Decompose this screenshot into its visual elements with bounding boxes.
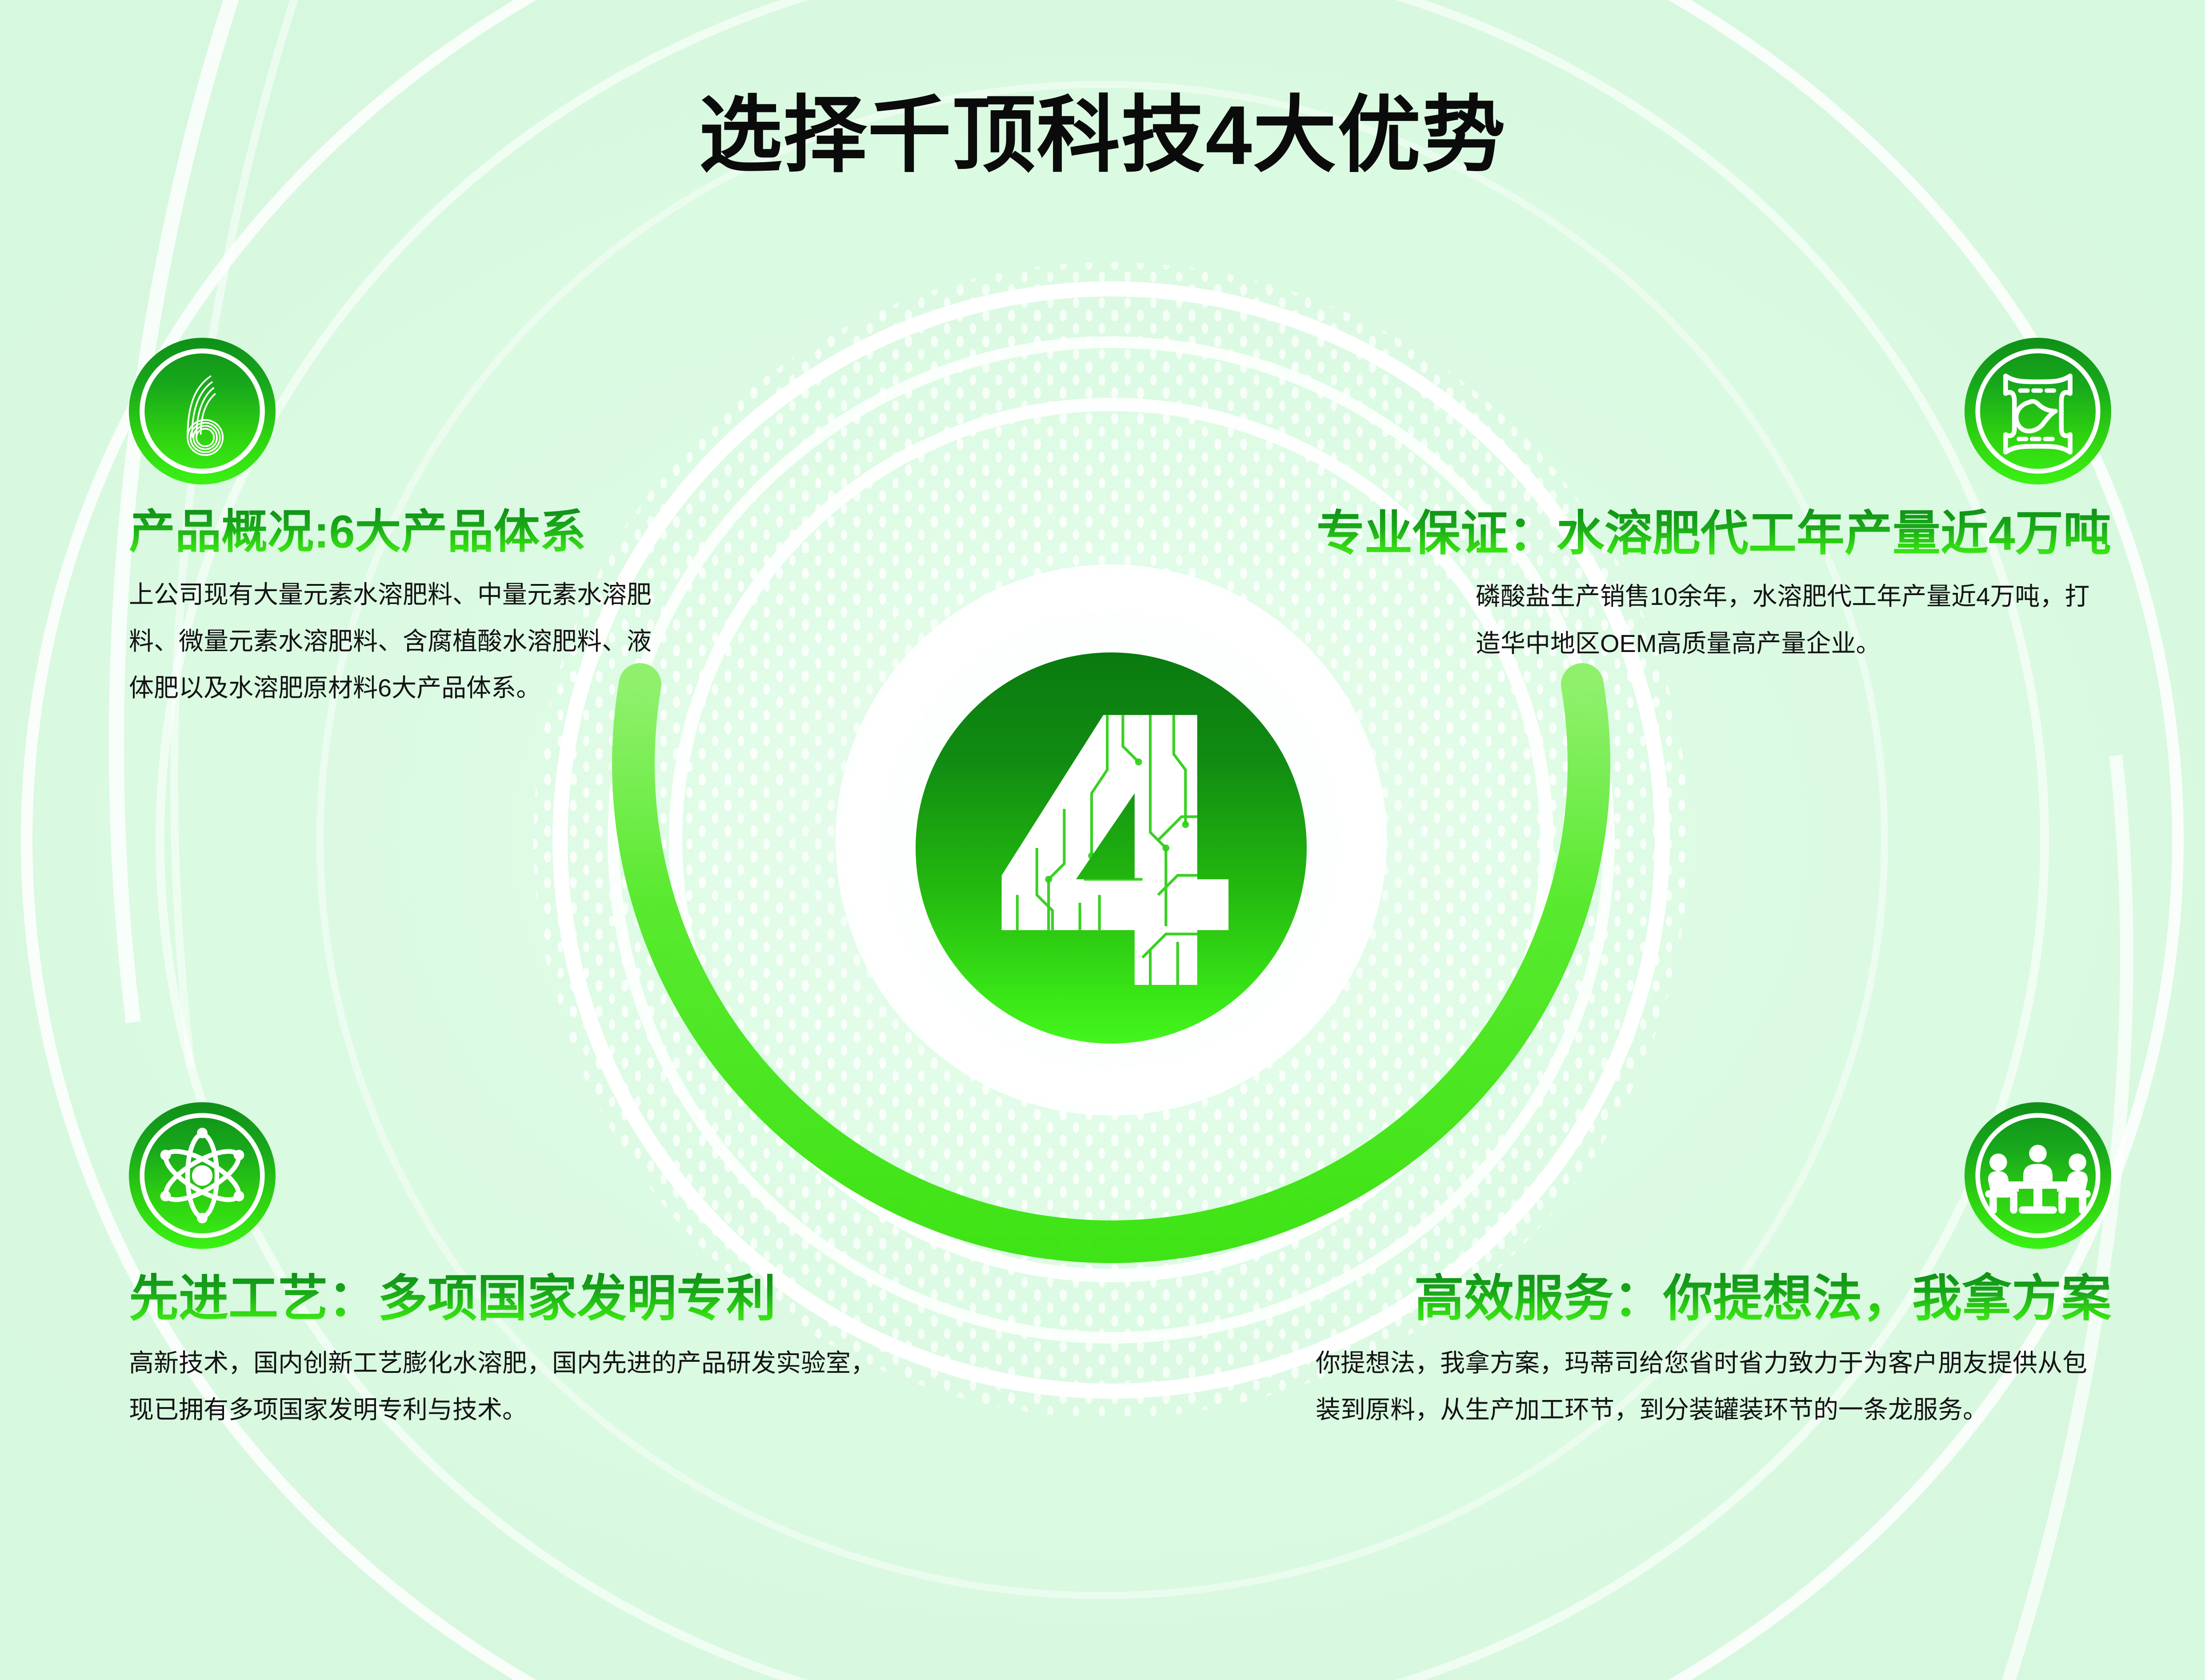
advantage-body: 高新技术，国内创新工艺膨化水溶肥，国内先进的产品研发实验室，现已拥有多项国家发明… — [129, 1340, 876, 1433]
atom-icon — [129, 1102, 276, 1249]
infographic-poster: 选择千顶科技4大优势 — [0, 0, 2205, 1680]
number-six-rings-icon — [129, 338, 276, 484]
advantage-card-efficient-service: 高效服务：你提想法，我拿方案 你提想法，我拿方案，玛蒂司给您省时省力致力于为客户… — [1316, 1102, 2111, 1433]
icon-wrapper — [129, 1102, 276, 1249]
advantage-heading: 专业保证：水溶肥代工年产量近4万吨 — [1191, 505, 2111, 561]
advantage-body: 上公司现有大量元素水溶肥料、中量元素水溶肥料、微量元素水溶肥料、含腐植酸水溶肥料… — [129, 571, 671, 712]
icon-wrapper — [1965, 1102, 2111, 1249]
advantage-card-advanced-process: 先进工艺：多项国家发明专利 高新技术，国内创新工艺膨化水溶肥，国内先进的产品研发… — [129, 1102, 884, 1433]
advantage-body: 磷酸盐生产销售10余年，水溶肥代工年产量近4万吨，打造华中地区OEM高质量高产量… — [1476, 573, 2111, 667]
page-title: 选择千顶科技4大优势 — [0, 92, 2205, 179]
icon-wrapper — [129, 338, 276, 484]
advantage-heading: 先进工艺：多项国家发明专利 — [129, 1269, 884, 1328]
team-meeting-icon — [1965, 1102, 2111, 1249]
icon-wrapper — [1965, 338, 2111, 484]
advantage-body: 你提想法，我拿方案，玛蒂司给您省时省力致力于为客户朋友提供从包装到原料，从生产加… — [1316, 1340, 2102, 1433]
center-number-badge — [916, 652, 1307, 1044]
fertilizer-bag-icon — [1965, 338, 2111, 484]
advantage-heading: 产品概况:6大产品体系 — [129, 505, 707, 560]
advantage-heading: 高效服务：你提想法，我拿方案 — [1316, 1269, 2111, 1328]
advantage-card-product-overview: 产品概况:6大产品体系 上公司现有大量元素水溶肥料、中量元素水溶肥料、微量元素水… — [129, 338, 707, 712]
advantage-card-professional-guarantee: 专业保证：水溶肥代工年产量近4万吨 磷酸盐生产销售10余年，水溶肥代工年产量近4… — [1191, 338, 2111, 667]
